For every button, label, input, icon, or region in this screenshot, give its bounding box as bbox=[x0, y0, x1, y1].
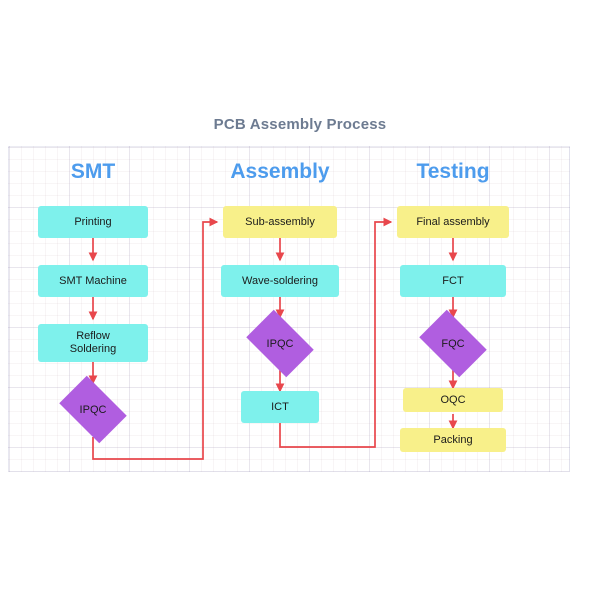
column-header-testing: Testing bbox=[393, 160, 513, 184]
node-label: ICT bbox=[271, 401, 289, 414]
node-label: Final assembly bbox=[416, 216, 489, 229]
node-label: IPQC bbox=[53, 382, 133, 437]
node-label: OQC bbox=[440, 394, 465, 407]
node-sub-assembly[interactable]: Sub-assembly bbox=[223, 206, 337, 238]
node-reflow-soldering[interactable]: Reflow Soldering bbox=[38, 324, 148, 362]
node-ipqc-smt[interactable]: IPQC bbox=[53, 382, 133, 437]
node-label: Printing bbox=[74, 216, 111, 229]
node-label: Packing bbox=[433, 434, 472, 447]
node-label: Wave-soldering bbox=[242, 275, 318, 288]
node-label: FCT bbox=[442, 275, 463, 288]
node-fqc[interactable]: FQC bbox=[413, 316, 493, 371]
node-label: SMT Machine bbox=[59, 275, 127, 288]
node-printing[interactable]: Printing bbox=[38, 206, 148, 238]
node-smt-machine[interactable]: SMT Machine bbox=[38, 265, 148, 297]
node-label: IPQC bbox=[240, 316, 320, 371]
node-packing[interactable]: Packing bbox=[400, 428, 506, 452]
column-header-smt: SMT bbox=[33, 160, 153, 184]
node-label-line2: Soldering bbox=[70, 343, 116, 356]
node-label-line1: Reflow bbox=[76, 330, 110, 343]
node-ict[interactable]: ICT bbox=[241, 391, 319, 423]
node-label: Sub-assembly bbox=[245, 216, 315, 229]
column-header-assembly: Assembly bbox=[220, 160, 340, 184]
node-wave-soldering[interactable]: Wave-soldering bbox=[221, 265, 339, 297]
page-title: PCB Assembly Process bbox=[0, 116, 600, 133]
node-final-assembly[interactable]: Final assembly bbox=[397, 206, 509, 238]
node-fct[interactable]: FCT bbox=[400, 265, 506, 297]
flowchart-canvas: PCB Assembly Process SMT Assembly Testin… bbox=[0, 0, 600, 600]
node-label: FQC bbox=[413, 316, 493, 371]
node-ipqc-assembly[interactable]: IPQC bbox=[240, 316, 320, 371]
node-oqc[interactable]: OQC bbox=[403, 388, 503, 412]
